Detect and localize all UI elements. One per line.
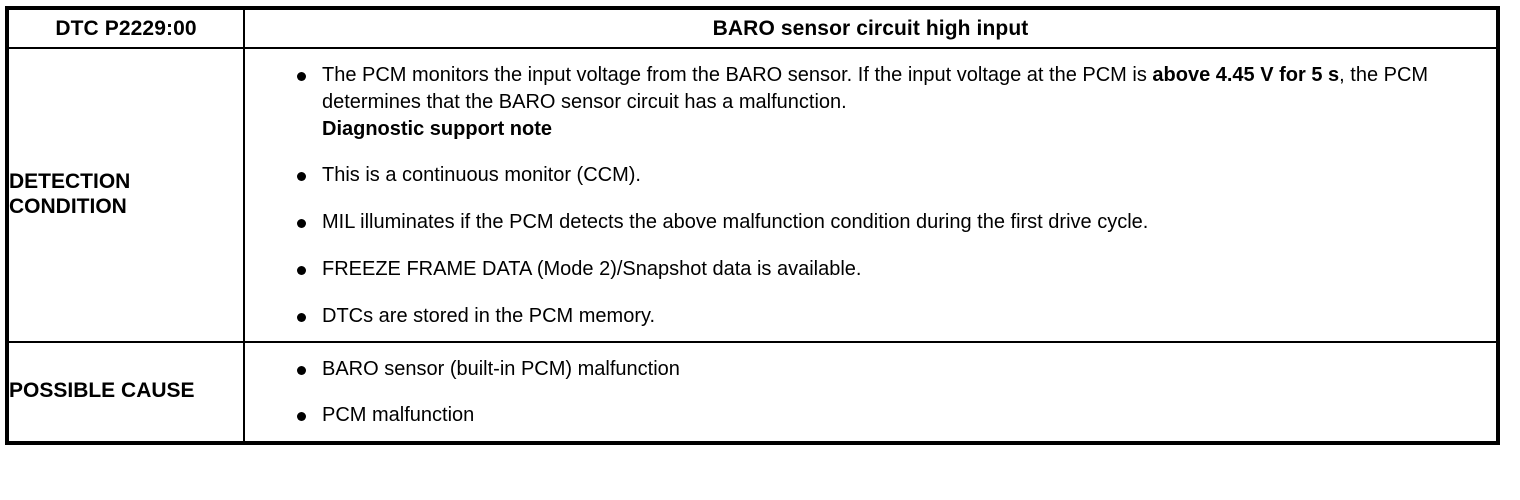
possible-cause-block: BARO sensor (built-in PCM) malfunctionPC… (245, 343, 1496, 442)
bullet-list: BARO sensor (built-in PCM) malfunctionPC… (295, 356, 1482, 430)
bullet-item: PCM malfunction (295, 402, 1482, 429)
dtc-diagnostic-table: DTC P2229:00 BARO sensor circuit high in… (5, 6, 1500, 445)
bullet-item: MIL illuminates if the PCM detects the a… (295, 209, 1482, 236)
plain-text: FREEZE FRAME DATA (Mode 2)/Snapshot data… (322, 258, 861, 280)
detection-condition-content: The PCM monitors the input voltage from … (244, 48, 1498, 342)
dtc-code-cell: DTC P2229:00 (7, 8, 244, 48)
bullet-text: MIL illuminates if the PCM detects the a… (322, 211, 1148, 233)
bullet-text: DTCs are stored in the PCM memory. (322, 305, 655, 327)
bullet-dot-icon (297, 412, 306, 421)
bullet-text: FREEZE FRAME DATA (Mode 2)/Snapshot data… (322, 258, 861, 280)
bullet-item: The PCM monitors the input voltage from … (295, 62, 1482, 116)
bullet-item: BARO sensor (built-in PCM) malfunction (295, 356, 1482, 383)
bullet-dot-icon (297, 266, 306, 275)
plain-text: PCM malfunction (322, 404, 474, 426)
plain-text: MIL illuminates if the PCM detects the a… (322, 211, 1148, 233)
row-label-detection-condition: DETECTION CONDITION (7, 48, 244, 342)
bullet-item: This is a continuous monitor (CCM). (295, 162, 1482, 189)
plain-text: DTCs are stored in the PCM memory. (322, 305, 655, 327)
bullet-text: The PCM monitors the input voltage from … (322, 64, 1428, 113)
emphasis-text: above 4.45 V for 5 s (1152, 64, 1339, 86)
table-header-row: DTC P2229:00 BARO sensor circuit high in… (7, 8, 1498, 48)
bullet-dot-icon (297, 172, 306, 181)
bullet-dot-icon (297, 219, 306, 228)
plain-text: BARO sensor (built-in PCM) malfunction (322, 358, 680, 380)
document-page: DTC P2229:00 BARO sensor circuit high in… (0, 0, 1520, 500)
bullet-list: This is a continuous monitor (CCM).MIL i… (295, 162, 1482, 329)
bullet-item: FREEZE FRAME DATA (Mode 2)/Snapshot data… (295, 256, 1482, 283)
row-label-possible-cause: POSSIBLE CAUSE (7, 342, 244, 444)
plain-text: This is a continuous monitor (CCM). (322, 164, 641, 186)
bullet-dot-icon (297, 72, 306, 81)
dtc-title-cell: BARO sensor circuit high input (244, 8, 1498, 48)
bullet-text: BARO sensor (built-in PCM) malfunction (322, 358, 680, 380)
possible-cause-content: BARO sensor (built-in PCM) malfunctionPC… (244, 342, 1498, 444)
plain-text: The PCM monitors the input voltage from … (322, 64, 1152, 86)
detection-condition-block: The PCM monitors the input voltage from … (245, 49, 1496, 341)
bullet-item: DTCs are stored in the PCM memory. (295, 303, 1482, 330)
bullet-text: PCM malfunction (322, 404, 474, 426)
table-row-detection-condition: DETECTION CONDITION The PCM monitors the… (7, 48, 1498, 342)
table-row-possible-cause: POSSIBLE CAUSE BARO sensor (built-in PCM… (7, 342, 1498, 444)
detection-item-list: The PCM monitors the input voltage from … (295, 62, 1482, 330)
bullet-dot-icon (297, 313, 306, 322)
possible-cause-item-list: BARO sensor (built-in PCM) malfunctionPC… (295, 356, 1482, 430)
bullet-list: The PCM monitors the input voltage from … (295, 62, 1482, 116)
diagnostic-support-note-heading: Diagnostic support note (322, 116, 1482, 143)
bullet-text: This is a continuous monitor (CCM). (322, 164, 641, 186)
bullet-dot-icon (297, 366, 306, 375)
